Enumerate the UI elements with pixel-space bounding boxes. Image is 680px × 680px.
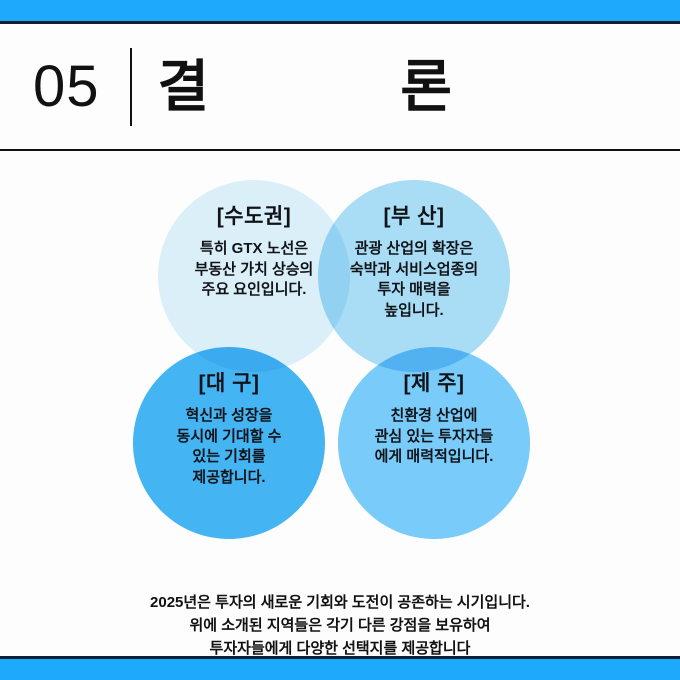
conclusion-paragraph: 2025년은 투자의 새로운 기회와 도전이 공존하는 시기입니다. 위에 소개… [0, 592, 680, 660]
slide-canvas: 05 결 론 [수도권] 특히 GTX 노선은 부동산 가치 상승의 주요 요인… [0, 0, 680, 680]
slide-number: 05 [33, 58, 100, 116]
bottom-accent-bar [0, 656, 680, 680]
header-divider [130, 48, 132, 126]
venn-label-busan: [부 산] [299, 200, 529, 230]
venn-text-jeju: [제 주] 친환경 산업에 관심 있는 투자자들 에게 매력적입니다. [319, 367, 549, 468]
top-accent-bar [0, 0, 680, 24]
venn-body-jeju: 친환경 산업에 관심 있는 투자자들 에게 매력적입니다. [319, 406, 549, 468]
venn-body-busan: 관광 산업의 확장은 숙박과 서비스업종의 투자 매력을 높입니다. [299, 239, 529, 322]
slide-header: 05 결 론 [0, 24, 680, 151]
venn-text-busan: [부 산] 관광 산업의 확장은 숙박과 서비스업종의 투자 매력을 높입니다. [299, 200, 529, 322]
venn-label-daegu: [대 구] [114, 367, 344, 397]
header-inner: 05 결 론 [33, 48, 466, 126]
page-title: 결 론 [158, 59, 466, 115]
venn-label-jeju: [제 주] [319, 367, 549, 397]
venn-diagram: [수도권] 특히 GTX 노선은 부동산 가치 상승의 주요 요인입니다. [부… [0, 155, 680, 585]
venn-text-daegu: [대 구] 혁신과 성장을 동시에 기대할 수 있는 기회를 제공합니다. [114, 367, 344, 489]
venn-body-daegu: 혁신과 성장을 동시에 기대할 수 있는 기회를 제공합니다. [114, 406, 344, 489]
